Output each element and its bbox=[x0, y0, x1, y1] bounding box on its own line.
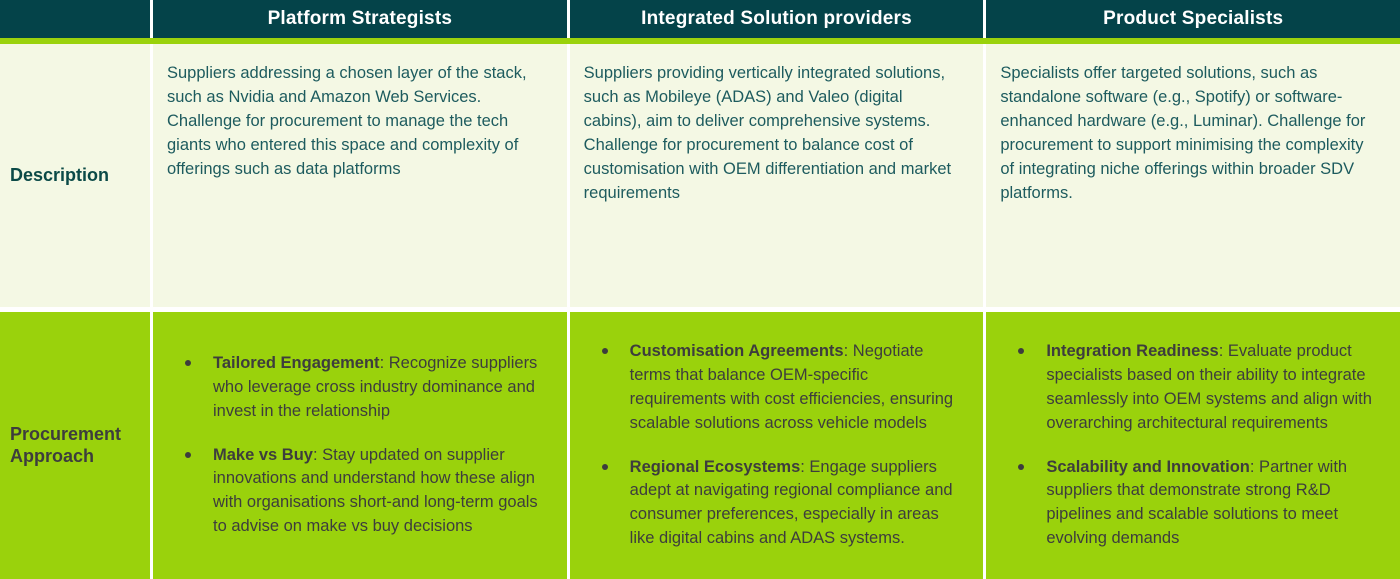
bullet-heading: Scalability and Innovation bbox=[1046, 458, 1250, 476]
description-text: Suppliers providing vertically integrate… bbox=[584, 62, 964, 206]
cell-approach-product-specialists: Integration Readiness: Evaluate product … bbox=[983, 312, 1400, 579]
bullet-dot-icon bbox=[185, 452, 191, 458]
list-item: Regional Ecosystems: Engage suppliers ad… bbox=[584, 456, 964, 552]
list-item: Tailored Engagement: Recognize suppliers… bbox=[167, 352, 547, 424]
list-item: Customisation Agreements: Negotiate term… bbox=[584, 340, 964, 436]
bullet-dot-icon bbox=[1018, 464, 1024, 470]
bullet-dot-icon bbox=[602, 464, 608, 470]
header-corner-cell bbox=[0, 0, 150, 38]
row-label-procurement-approach: Procurement Approach bbox=[0, 312, 150, 579]
bullet-list: Tailored Engagement: Recognize suppliers… bbox=[167, 352, 547, 539]
bullet-dot-icon bbox=[1018, 348, 1024, 354]
cell-description-integrated-solution-providers: Suppliers providing vertically integrate… bbox=[567, 44, 984, 307]
bullet-dot-icon bbox=[185, 360, 191, 366]
column-header-product-specialists: Product Specialists bbox=[983, 0, 1400, 38]
bullet-heading: Regional Ecosystems bbox=[630, 458, 801, 476]
bullet-heading: Integration Readiness bbox=[1046, 342, 1218, 360]
bullet-list: Customisation Agreements: Negotiate term… bbox=[584, 340, 964, 551]
column-header-platform-strategists: Platform Strategists bbox=[150, 0, 567, 38]
list-item: Scalability and Innovation: Partner with… bbox=[1000, 456, 1380, 552]
column-header-integrated-solution-providers: Integrated Solution providers bbox=[567, 0, 984, 38]
bullet-heading: Tailored Engagement bbox=[213, 354, 380, 372]
supplier-archetype-matrix: Platform Strategists Integrated Solution… bbox=[0, 0, 1400, 579]
row-label-description: Description bbox=[0, 44, 150, 307]
table-header-row: Platform Strategists Integrated Solution… bbox=[0, 0, 1400, 44]
bullet-list: Integration Readiness: Evaluate product … bbox=[1000, 340, 1380, 551]
cell-description-platform-strategists: Suppliers addressing a chosen layer of t… bbox=[150, 44, 567, 307]
cell-approach-integrated-solution-providers: Customisation Agreements: Negotiate term… bbox=[567, 312, 984, 579]
table-row-description: Description Suppliers addressing a chose… bbox=[0, 44, 1400, 312]
table-row-procurement-approach: Procurement Approach Tailored Engagement… bbox=[0, 312, 1400, 579]
bullet-heading: Customisation Agreements bbox=[630, 342, 844, 360]
cell-description-product-specialists: Specialists offer targeted solutions, su… bbox=[983, 44, 1400, 307]
cell-approach-platform-strategists: Tailored Engagement: Recognize suppliers… bbox=[150, 312, 567, 579]
bullet-dot-icon bbox=[602, 348, 608, 354]
description-text: Suppliers addressing a chosen layer of t… bbox=[167, 62, 547, 182]
description-text: Specialists offer targeted solutions, su… bbox=[1000, 62, 1380, 206]
list-item: Integration Readiness: Evaluate product … bbox=[1000, 340, 1380, 436]
bullet-heading: Make vs Buy bbox=[213, 446, 313, 464]
list-item: Make vs Buy: Stay updated on supplier in… bbox=[167, 444, 547, 540]
